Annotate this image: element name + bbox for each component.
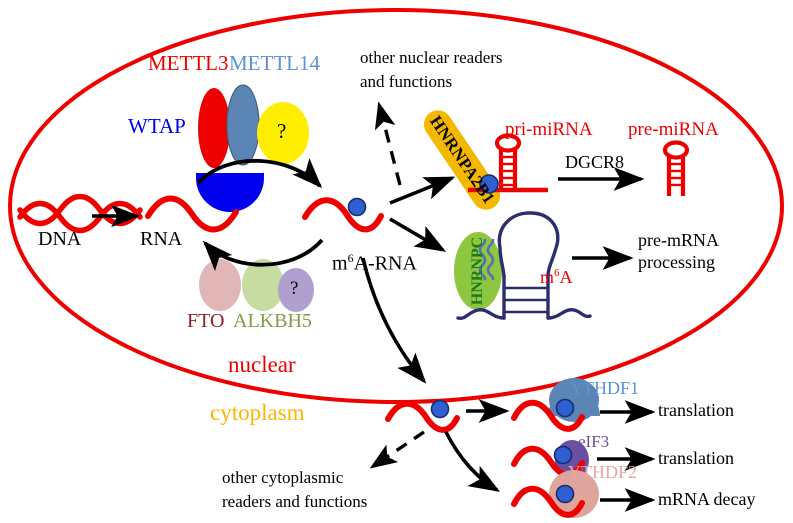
fto-label: FTO: [187, 310, 224, 332]
hnrnpc-label: HNRNPC: [469, 237, 487, 305]
alkbh5-shape: [242, 259, 284, 311]
arrow-other-cytoplasmic-readers: [372, 432, 424, 467]
rna-label: RNA: [140, 228, 182, 250]
m6a-rna-strand: [305, 200, 381, 229]
pathway-figure: METTL3 METTL14 WTAP ? FTO ALKBH5 ? DNA R…: [0, 0, 793, 523]
pri-mirna-label: pri-miRNA: [505, 119, 593, 140]
m6a-mark-cytoplasm: [432, 401, 449, 418]
fto-shape: [199, 259, 241, 311]
wtap-label: WTAP: [128, 115, 186, 139]
arrow-to-ythdf2: [446, 432, 497, 490]
other-cytoplasmic-readers-line2: readers and functions: [222, 492, 367, 511]
ythdf2-outcome: mRNA decay: [658, 489, 755, 509]
cytoplasm-compartment-label: cytoplasm: [210, 400, 305, 426]
other-cytoplasmic-readers-line1: other cytoplasmic: [222, 468, 343, 487]
m6a-mark-label: m6A: [522, 247, 573, 307]
eif3-outcome: translation: [658, 448, 734, 468]
other-nuclear-readers-line2: and functions: [360, 72, 452, 91]
dna-label: DNA: [38, 228, 81, 250]
writer-complex: [196, 85, 309, 212]
dgcr8-label: DGCR8: [565, 152, 624, 172]
m6a-mark-base: m: [540, 267, 554, 287]
ythdf1-label: YTHDF1: [570, 378, 639, 398]
dna-strands: [20, 197, 140, 231]
pre-mirna-structure: [665, 143, 687, 197]
ythdf1-outcome: translation: [658, 400, 734, 420]
pre-mrna-output-line1: pre-mRNA: [638, 230, 719, 250]
nuclear-compartment-label: nuclear: [228, 352, 296, 378]
m6a-rna-base: m: [332, 253, 348, 275]
pre-mirna-label: pre-miRNA: [628, 119, 719, 140]
m6a-rna-tail: A-RNA: [354, 253, 417, 275]
eif3-label: eIF3: [578, 432, 609, 451]
m6a-rna-label: m6A-RNA: [312, 230, 417, 298]
eraser-unknown-label: ?: [290, 278, 298, 299]
ythdf2-label: YTHDF2: [568, 462, 637, 482]
m6a-mark-tail: A: [560, 267, 573, 287]
mettl14-shape: [227, 85, 259, 165]
mettl3-shape: [198, 88, 230, 168]
other-nuclear-readers-line1: other nuclear readers: [360, 48, 503, 67]
pre-mrna-output-line2: processing: [638, 252, 715, 272]
m6a-mark-nuclear: [349, 199, 366, 216]
writer-unknown-label: ?: [277, 120, 286, 144]
mettl3-label: METTL3: [148, 52, 228, 76]
mettl14-label: METTL14: [229, 52, 320, 76]
alkbh5-label: ALKBH5: [233, 310, 312, 332]
arrow-other-nuclear-readers: [379, 104, 400, 185]
